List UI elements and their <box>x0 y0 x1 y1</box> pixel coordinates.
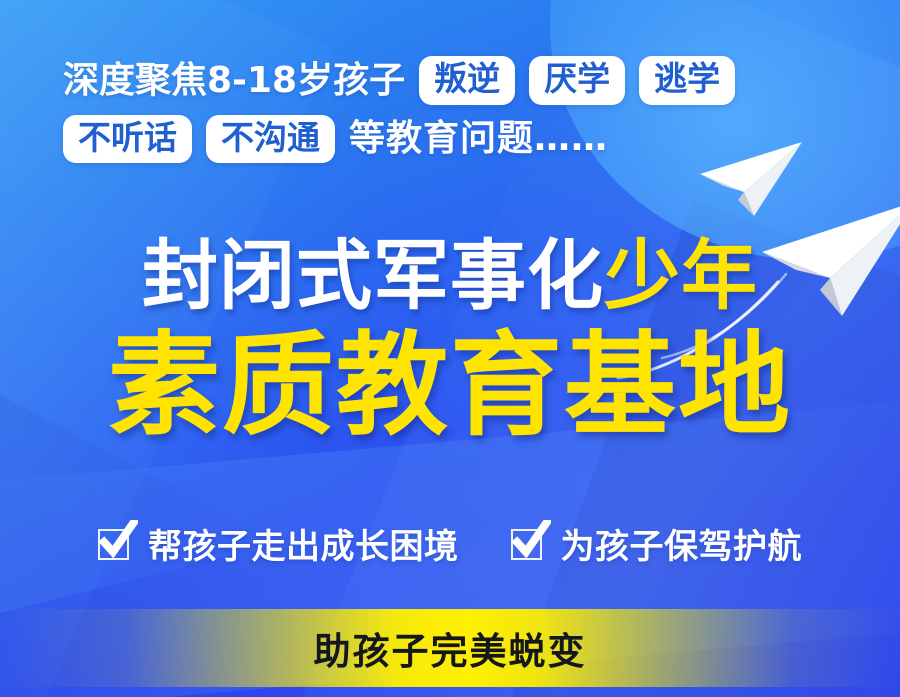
feature-label: 为孩子保驾护航 <box>561 519 803 568</box>
feature-item: 为孩子保驾护航 <box>511 519 803 568</box>
promo-banner: 深度聚焦8-18岁孩子 叛逆 厌学 逃学 不听话 不沟通 等教育问题…… 封闭式… <box>0 0 900 697</box>
footer-slogan: 助孩子完美蜕变 <box>314 621 587 675</box>
footer-ribbon: 助孩子完美蜕变 <box>0 609 900 687</box>
headline-primary-white: 封闭式军事化 <box>142 231 604 320</box>
headline-line-2: 素质教育基地 <box>0 330 900 442</box>
feature-item: 帮孩子走出成长困境 <box>98 519 459 568</box>
tagline-trail-text: 等教育问题…… <box>349 118 608 159</box>
tag-pill-disobedient[interactable]: 不听话 <box>63 115 192 164</box>
tag-pill-rebellious[interactable]: 叛逆 <box>419 56 515 105</box>
tagline-row-1: 深度聚焦8-18岁孩子 叛逆 厌学 逃学 <box>63 56 853 105</box>
feature-list: 帮孩子走出成长困境 为孩子保驾护航 <box>0 519 900 568</box>
checkbox-checked-icon <box>511 526 547 562</box>
tag-pill-school-aversion[interactable]: 厌学 <box>529 56 625 105</box>
headline-primary-yellow: 少年 <box>604 231 758 320</box>
tagline-row-2: 不听话 不沟通 等教育问题…… <box>63 115 853 164</box>
feature-label: 帮孩子走出成长困境 <box>148 519 459 568</box>
tag-pill-truancy[interactable]: 逃学 <box>639 56 735 105</box>
headline-block: 封闭式军事化少年 素质教育基地 <box>0 238 900 442</box>
checkbox-checked-icon <box>98 526 134 562</box>
headline-line-1: 封闭式军事化少年 <box>0 238 900 314</box>
tag-pill-no-communication[interactable]: 不沟通 <box>206 115 335 164</box>
tagline-block: 深度聚焦8-18岁孩子 叛逆 厌学 逃学 不听话 不沟通 等教育问题…… <box>63 56 853 163</box>
tagline-lead-text: 深度聚焦8-18岁孩子 <box>63 60 405 101</box>
